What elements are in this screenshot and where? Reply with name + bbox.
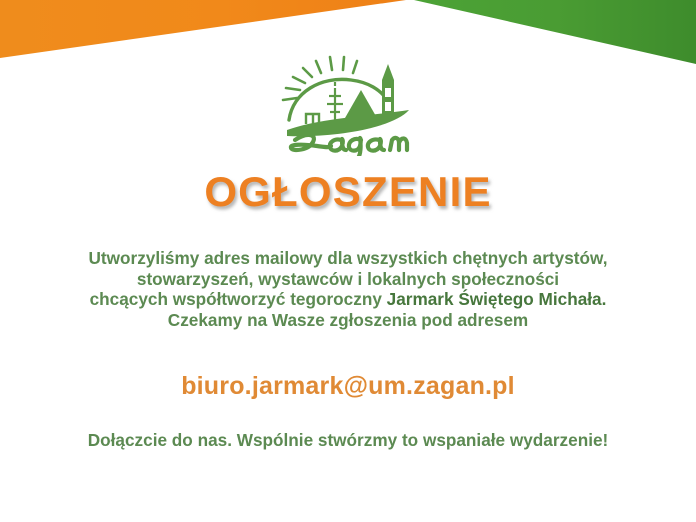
zagan-town-logo: [273, 44, 423, 156]
church-tower: [382, 64, 394, 120]
closing-call-to-action: Dołączcie do nas. Wspólnie stwórzmy to w…: [88, 429, 609, 451]
body-line-3-prefix: chcących współtworzyć tegoroczny: [90, 289, 387, 309]
event-name-highlight: Jarmark Świętego Michała.: [387, 289, 607, 309]
body-line-4: Czekamy na Wasze zgłoszenia pod adresem: [0, 310, 696, 331]
page-title: OGŁOSZENIE: [204, 168, 491, 216]
hill-silhouette: [345, 90, 377, 118]
body-line-1: Utworzyliśmy adres mailowy dla wszystkic…: [0, 248, 696, 269]
announcement-poster: OGŁOSZENIE Utworzyliśmy adres mailowy dl…: [0, 0, 696, 522]
closing-wrap: Dołączcie do nas. Wspólnie stwórzmy to w…: [0, 429, 696, 451]
title-wrap: OGŁOSZENIE: [0, 168, 696, 216]
contact-email-address[interactable]: biuro.jarmark@um.zagan.pl: [181, 371, 515, 401]
script-wordmark: [291, 135, 407, 156]
body-line-2: stowarzyszeń, wystawców i lokalnych społ…: [0, 269, 696, 290]
body-line-3: chcących współtworzyć tegoroczny Jarmark…: [0, 289, 696, 310]
email-wrap: biuro.jarmark@um.zagan.pl: [0, 371, 696, 401]
logo-block: [0, 44, 696, 156]
announcement-body: Utworzyliśmy adres mailowy dla wszystkic…: [0, 248, 696, 330]
